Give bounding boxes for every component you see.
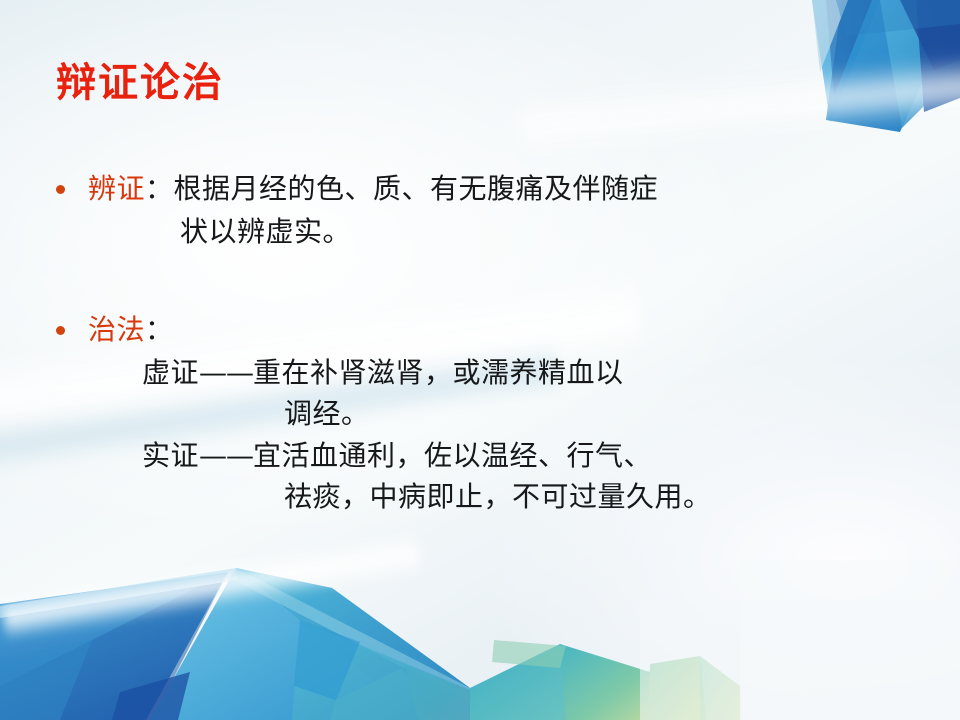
- treatment-line: 虚证——重在补肾滋肾，或濡养精血以: [46, 352, 926, 393]
- slide-canvas: 辩证论治 辨证：根据月经的色、质、有无腹痛及伴随症 状以辨虚实。 治法： 虚证—…: [0, 0, 960, 720]
- treatment-dash: ——: [199, 435, 253, 476]
- bullet-line: 辨证：根据月经的色、质、有无腹痛及伴随症: [46, 168, 926, 211]
- bullet-keyword: 治法: [88, 313, 145, 346]
- bullet-keyword: 辨证: [88, 172, 145, 205]
- bullet-body-line-2: 状以辨虚实。: [46, 211, 926, 254]
- page-title: 辩证论治: [56, 60, 224, 106]
- block-spacer: [46, 253, 926, 309]
- bullet-item-bianzheng: 辨证：根据月经的色、质、有无腹痛及伴随症 状以辨虚实。: [46, 168, 926, 253]
- treatment-item-shizheng: 实证——宜活血通利，佐以温经、行气、 祛痰，中病即止，不可过量久用。: [46, 435, 926, 518]
- treatment-term: 虚证: [142, 352, 199, 393]
- bullet-dot-icon: [56, 185, 65, 194]
- bullet-separator: ：: [145, 172, 174, 205]
- slide-content: 辩证论治 辨证：根据月经的色、质、有无腹痛及伴随症 状以辨虚实。 治法： 虚证—…: [0, 0, 960, 720]
- treatment-body-line-1: 重在补肾滋肾，或濡养精血以: [253, 356, 624, 389]
- treatment-body-line-1: 宜活血通利，佐以温经、行气、: [253, 439, 652, 472]
- treatment-body-line-2: 祛痰，中病即止，不可过量久用。: [46, 476, 926, 517]
- treatment-item-xuzheng: 虚证——重在补肾滋肾，或濡养精血以 调经。: [46, 352, 926, 435]
- treatment-body-line-2: 调经。: [46, 393, 926, 434]
- bullet-item-zhifa: 治法：: [46, 309, 926, 352]
- treatment-dash: ——: [199, 352, 253, 393]
- bullet-separator: ：: [145, 313, 174, 346]
- bullet-body-line-1: 根据月经的色、质、有无腹痛及伴随症: [174, 172, 659, 205]
- bullet-line: 治法：: [46, 309, 926, 352]
- treatment-term: 实证: [142, 435, 199, 476]
- body-text-block: 辨证：根据月经的色、质、有无腹痛及伴随症 状以辨虚实。 治法： 虚证——重在补肾…: [46, 168, 926, 517]
- treatment-line: 实证——宜活血通利，佐以温经、行气、: [46, 435, 926, 476]
